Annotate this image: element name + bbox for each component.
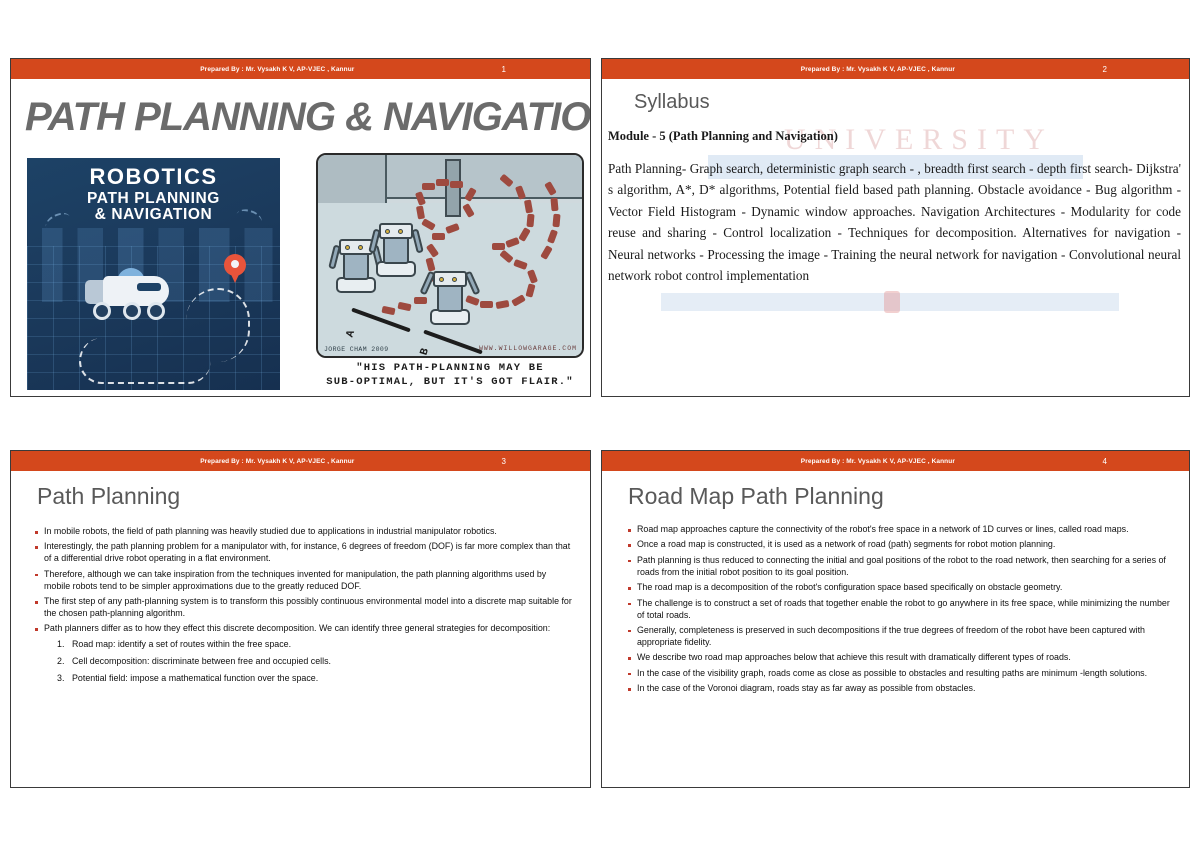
prepared-by-label: Prepared By : Mr. Vysakh K V, AP-VJEC , …: [801, 66, 955, 73]
slide-2-header-bar: Prepared By : Mr. Vysakh K V, AP-VJEC , …: [602, 59, 1189, 79]
list-item: The road map is a decomposition of the r…: [628, 582, 1173, 594]
list-item: In mobile robots, the field of path plan…: [35, 526, 574, 538]
list-item: Road map approaches capture the connecti…: [628, 524, 1173, 536]
slide-4-header-bar: Prepared By : Mr. Vysakh K V, AP-VJEC , …: [602, 451, 1189, 471]
slide-2-title: Syllabus: [634, 91, 710, 114]
poster-title-line2: PATH PLANNING: [27, 191, 280, 208]
watermark-band-bottom: [661, 293, 1119, 311]
list-item: Cell decomposition: discriminate between…: [57, 656, 574, 668]
robotics-poster-image: ROBOTICS PATH PLANNING & NAVIGATION: [27, 158, 280, 390]
poster-title: ROBOTICS PATH PLANNING & NAVIGATION: [27, 165, 280, 224]
slide-3-title: Path Planning: [37, 483, 180, 510]
list-item: Potential field: impose a mathematical f…: [57, 673, 574, 685]
cartoon-pillar: [445, 159, 461, 217]
slide-2[interactable]: Prepared By : Mr. Vysakh K V, AP-VJEC , …: [601, 58, 1190, 397]
cartoon-caption: "HIS PATH-PLANNING MAY BE SUB-OPTIMAL, B…: [316, 361, 584, 389]
watermark-logo: [884, 291, 900, 313]
slide-3[interactable]: Prepared By : Mr. Vysakh K V, AP-VJEC , …: [10, 450, 591, 788]
list-item: The challenge is to construct a set of r…: [628, 598, 1173, 622]
slide-1-header-bar: Prepared By : Mr. Vysakh K V, AP-VJEC , …: [11, 59, 590, 79]
poster-map-pin-icon: [224, 254, 246, 284]
module-heading: Module - 5 (Path Planning and Navigation…: [608, 129, 1181, 144]
slide-3-body: Path Planning In mobile robots, the fiel…: [11, 471, 590, 787]
decomposition-strategies-list: Road map: identify a set of routes withi…: [57, 639, 574, 685]
slide-1-body: PATH PLANNING & NAVIGATION ROBOTICS PATH…: [11, 79, 590, 396]
slide-3-bullet-list: In mobile robots, the field of path plan…: [35, 526, 574, 690]
slide-number: 4: [1103, 457, 1107, 466]
slide-number: 2: [1103, 65, 1107, 74]
slide-4-bullet-list: Road map approaches capture the connecti…: [628, 524, 1173, 699]
list-item: We describe two road map approaches belo…: [628, 652, 1173, 664]
list-item: Interestingly, the path planning problem…: [35, 541, 574, 565]
prepared-by-label: Prepared By : Mr. Vysakh K V, AP-VJEC , …: [200, 458, 354, 465]
poster-robot-rover-icon: [85, 268, 169, 320]
cartoon-credit: JORGE CHAM 2009: [324, 346, 389, 353]
list-item: Road map: identify a set of routes withi…: [57, 639, 574, 651]
poster-title-line1: ROBOTICS: [27, 165, 280, 189]
list-item: In the case of the visibility graph, roa…: [628, 668, 1173, 680]
slide-3-header-bar: Prepared By : Mr. Vysakh K V, AP-VJEC , …: [11, 451, 590, 471]
slide-number: 1: [502, 65, 506, 74]
slide-4[interactable]: Prepared By : Mr. Vysakh K V, AP-VJEC , …: [601, 450, 1190, 788]
poster-dashed-path-right: [186, 288, 250, 362]
list-item: The first step of any path-planning syst…: [35, 596, 574, 620]
list-item: In the case of the Voronoi diagram, road…: [628, 683, 1173, 695]
slide-2-body: UNIVERSITY Syllabus Module - 5 (Path Pla…: [602, 79, 1189, 396]
cartoon-site-url: WWW.WILLOWGARAGE.COM: [479, 345, 577, 352]
list-item: Therefore, although we can take inspirat…: [35, 569, 574, 593]
cartoon-caption-line1: "HIS PATH-PLANNING MAY BE: [316, 361, 584, 375]
slide-1[interactable]: Prepared By : Mr. Vysakh K V, AP-VJEC , …: [10, 58, 591, 397]
slide-4-title: Road Map Path Planning: [628, 483, 884, 510]
cartoon-robot-2: [376, 217, 416, 277]
syllabus-paragraph: Path Planning- Graph search, determinist…: [608, 158, 1181, 286]
slide-deck: Prepared By : Mr. Vysakh K V, AP-VJEC , …: [0, 0, 1200, 849]
list-item: Generally, completeness is preserved in …: [628, 625, 1173, 649]
slide-1-title: PATH PLANNING & NAVIGATION: [25, 95, 591, 140]
cartoon-robot-3: [430, 265, 470, 325]
cartoon-frame: A B JORGE CHAM 2009 WWW.WILLOWGARAGE.COM: [316, 153, 584, 358]
list-item: Path planning is thus reduced to connect…: [628, 555, 1173, 579]
list-item: Path planners differ as to how they effe…: [35, 623, 574, 635]
syllabus-document: Module - 5 (Path Planning and Navigation…: [608, 129, 1181, 286]
path-planning-cartoon: A B JORGE CHAM 2009 WWW.WILLOWGARAGE.COM…: [316, 153, 584, 395]
list-item: Once a road map is constructed, it is us…: [628, 539, 1173, 551]
slide-4-body: Road Map Path Planning Road map approach…: [602, 471, 1189, 787]
prepared-by-label: Prepared By : Mr. Vysakh K V, AP-VJEC , …: [801, 458, 955, 465]
slide-number: 3: [502, 457, 506, 466]
poster-title-line3: & NAVIGATION: [27, 207, 280, 224]
prepared-by-label: Prepared By : Mr. Vysakh K V, AP-VJEC , …: [200, 66, 354, 73]
cartoon-caption-line2: SUB-OPTIMAL, BUT IT'S GOT FLAIR.": [316, 375, 584, 389]
